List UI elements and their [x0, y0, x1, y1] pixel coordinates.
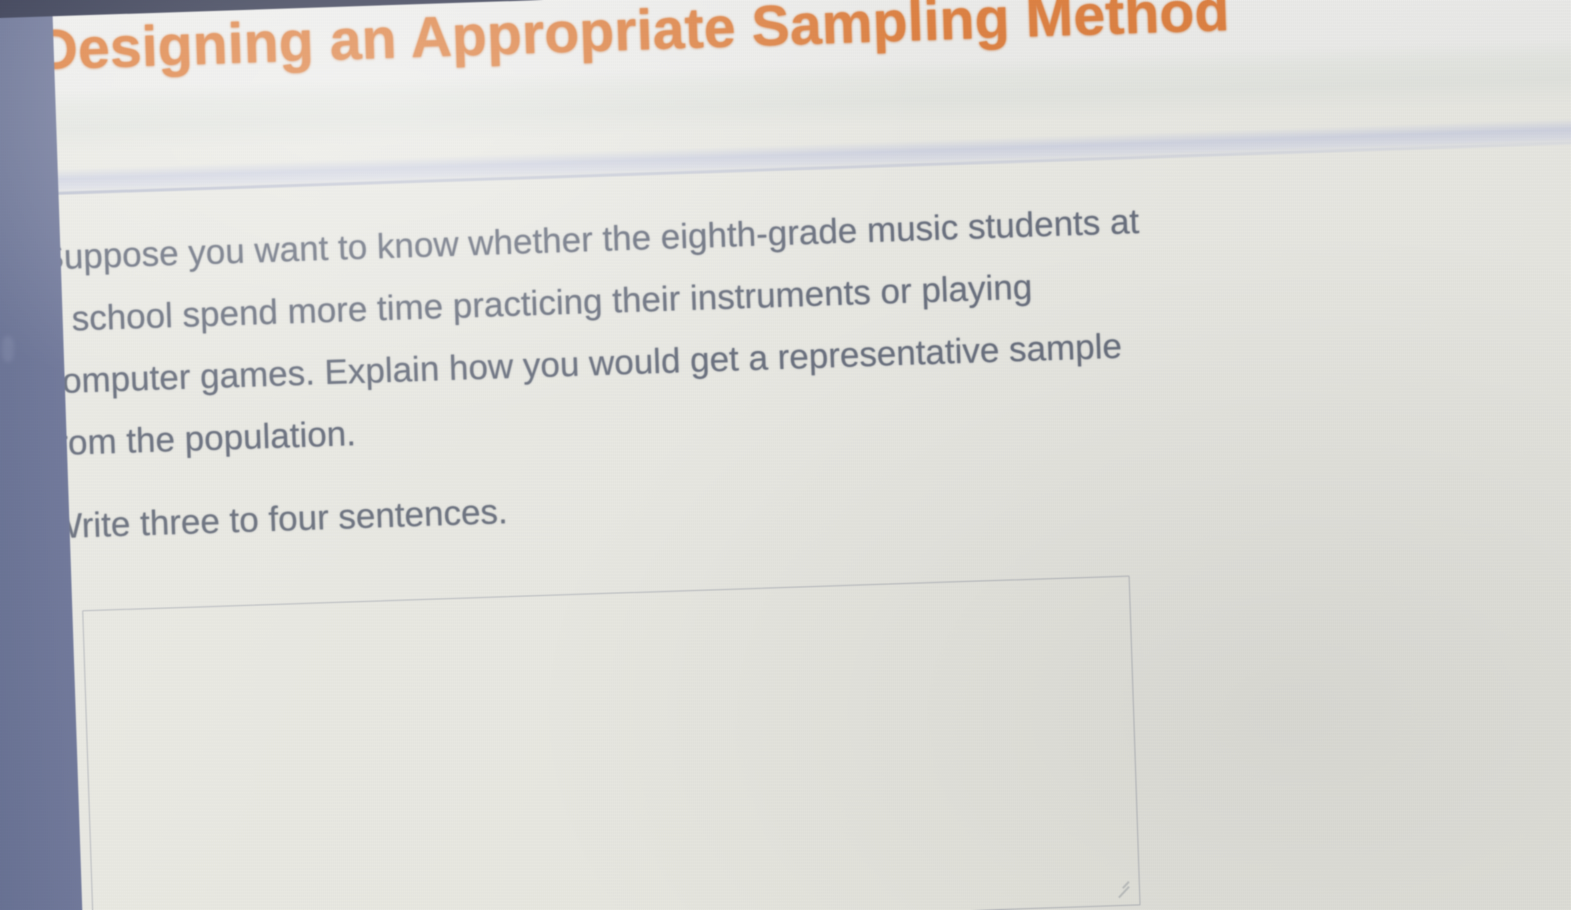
resize-grip-icon[interactable]	[1109, 870, 1132, 893]
question-body: Suppose you want to know whether the eig…	[39, 191, 1149, 549]
screen-surface: Designing an Appropriate Sampling Method…	[0, 0, 1571, 910]
lesson-card: Designing an Appropriate Sampling Method…	[0, 0, 1571, 910]
header: Designing an Appropriate Sampling Method	[35, 0, 1571, 83]
page-title: Designing an Appropriate Sampling Method	[35, 0, 1571, 83]
question-prompt: Suppose you want to know whether the eig…	[39, 191, 1147, 475]
screenshot-root: Designing an Appropriate Sampling Method…	[0, 0, 1571, 910]
bezel-highlight-speck	[2, 336, 14, 362]
answer-textarea[interactable]	[82, 576, 1140, 910]
question-instruction: Write three to four sentences.	[49, 469, 1150, 549]
